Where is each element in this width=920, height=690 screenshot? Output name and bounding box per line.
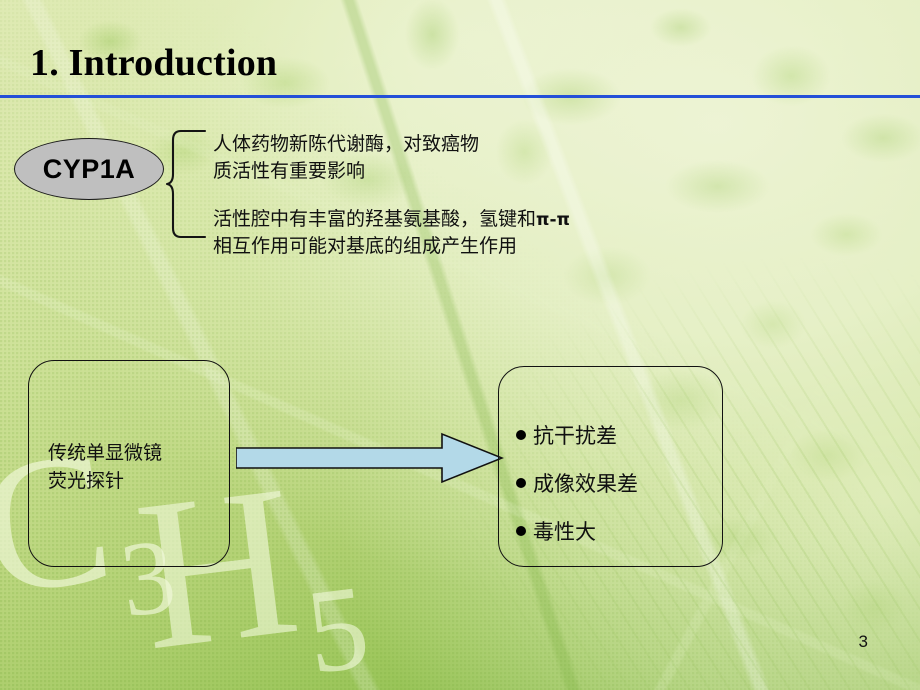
bullet-dot-icon [516,526,526,536]
bullet-dot-icon [516,430,526,440]
bullet-dot-icon [516,478,526,488]
enzyme-note-active-site-part2: 相互作用可能对基底的组成产生作用 [213,235,517,257]
title-underline-rule [0,95,920,98]
presentation-slide: C3 H5 1. Introduction CYP1A 人体药物新陈代谢酶，对致… [0,0,920,690]
cyp1a-ellipse-shape: CYP1A [14,138,164,200]
right-arrow-icon [236,432,504,484]
list-item: 毒性大 [516,516,716,546]
pi-pi-symbol: π-π [536,210,570,230]
enzyme-note-active-site-part1: 活性腔中有丰富的羟基氨基酸，氢键和 [213,208,536,230]
page-number: 3 [859,632,868,652]
curly-brace-icon [165,128,211,240]
enzyme-note-metabolism: 人体药物新陈代谢酶，对致癌物 质活性有重要影响 [213,131,479,185]
enzyme-note-active-site: 活性腔中有丰富的羟基氨基酸，氢键和π-π 相互作用可能对基底的组成产生作用 [213,206,570,260]
result-bullet-list: 抗干扰差 成像效果差 毒性大 [516,420,716,546]
list-item: 成像效果差 [516,468,716,498]
list-item-label: 毒性大 [533,516,596,546]
list-item-label: 抗干扰差 [533,420,617,450]
list-item-label: 成像效果差 [533,468,638,498]
page-title: 1. Introduction [30,42,277,85]
source-box-label: 传统单显微镜 荧光探针 [48,440,162,495]
cyp1a-label: CYP1A [43,154,136,185]
list-item: 抗干扰差 [516,420,716,450]
